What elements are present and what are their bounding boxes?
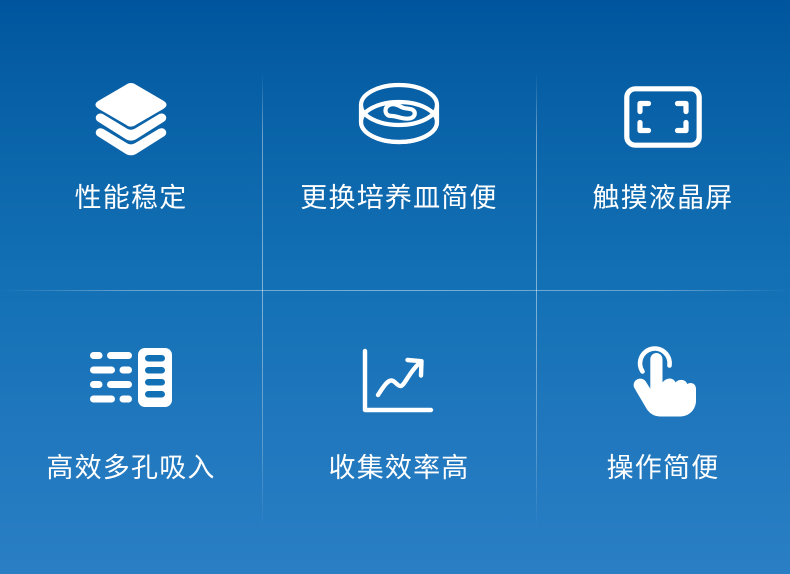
feature-cell-efficiency[interactable]: 收集效率高 bbox=[262, 290, 536, 574]
feature-label: 更换培养皿简便 bbox=[300, 184, 497, 214]
petri-dish-icon bbox=[356, 74, 442, 160]
stacked-layers-icon bbox=[93, 74, 169, 160]
feature-cell-touchscreen[interactable]: 触摸液晶屏 bbox=[536, 0, 790, 290]
feature-cell-easy-operation[interactable]: 操作简便 bbox=[536, 290, 790, 574]
feature-cell-petri-dish[interactable]: 更换培养皿简便 bbox=[262, 0, 536, 290]
feature-label: 高效多孔吸入 bbox=[46, 454, 215, 484]
feature-label: 收集效率高 bbox=[329, 454, 470, 484]
rising-line-chart-icon bbox=[361, 336, 437, 428]
feature-label: 性能稳定 bbox=[75, 184, 188, 214]
tap-hand-icon bbox=[630, 336, 696, 428]
touchscreen-frame-icon bbox=[624, 74, 702, 160]
feature-cell-performance[interactable]: 性能稳定 bbox=[0, 0, 262, 290]
feature-cell-airflow[interactable]: 高效多孔吸入 bbox=[0, 290, 262, 574]
feature-label: 操作简便 bbox=[607, 454, 720, 484]
feature-grid-panel: 性能稳定 更换培养皿简便 bbox=[0, 0, 790, 574]
feature-grid: 性能稳定 更换培养皿简便 bbox=[0, 0, 790, 574]
feature-label: 触摸液晶屏 bbox=[593, 184, 734, 214]
perforated-airflow-icon bbox=[90, 336, 172, 428]
